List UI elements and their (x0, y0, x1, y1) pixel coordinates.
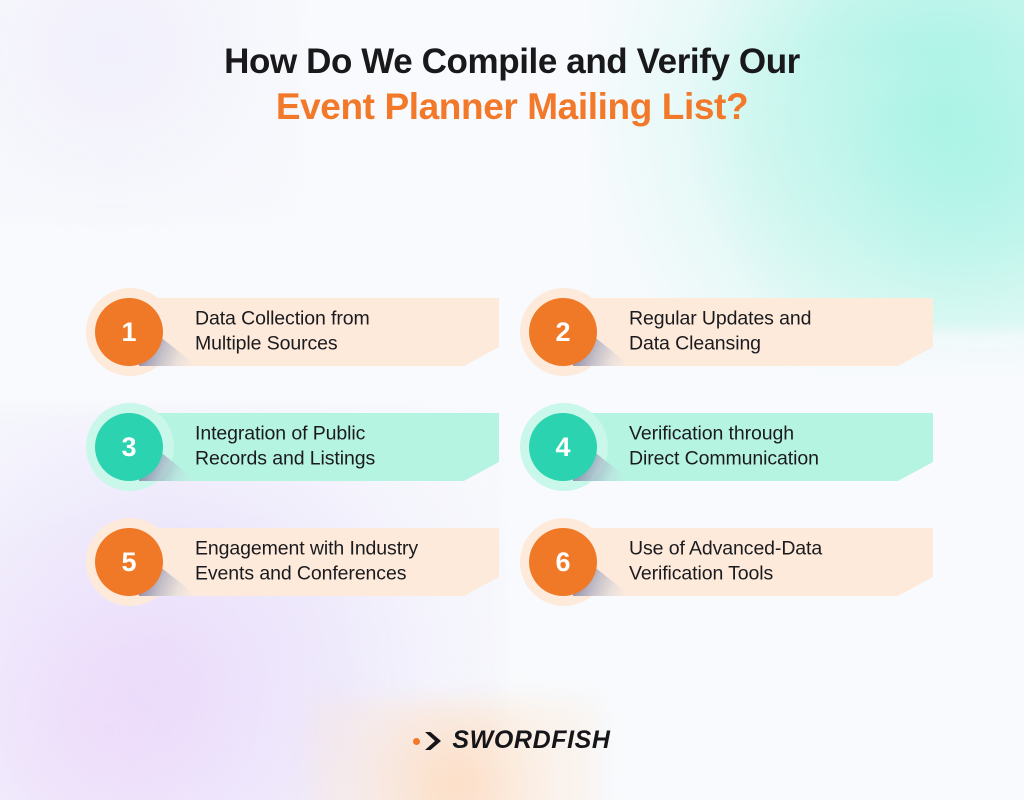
step-card-2-number: 2 (555, 319, 570, 346)
step-card-3[interactable]: 3 Integration of Public Records and List… (95, 413, 499, 481)
step-card-6-label: Use of Advanced-Data Verification Tools (629, 537, 925, 588)
step-card-5[interactable]: 5 Engagement with Industry Events and Co… (95, 528, 499, 596)
infographic-canvas: How Do We Compile and Verify Our Event P… (0, 0, 1024, 800)
step-card-2-number-badge: 2 (529, 298, 597, 366)
page-title-line-2: Event Planner Mailing List? (0, 85, 1024, 129)
step-card-4-number-badge: 4 (529, 413, 597, 481)
step-card-3-label-line-2: Records and Listings (195, 447, 491, 472)
step-card-6-number: 6 (555, 549, 570, 576)
brand-logo: SWORDFISH (0, 726, 1024, 755)
step-card-4-label-line-1: Verification through (629, 422, 925, 447)
step-card-5-label-line-1: Engagement with Industry (195, 537, 491, 562)
step-card-4-label: Verification through Direct Communicatio… (629, 422, 925, 473)
step-card-2-label: Regular Updates and Data Cleansing (629, 307, 925, 358)
step-card-1[interactable]: 1 Data Collection from Multiple Sources (95, 298, 499, 366)
step-card-5-label-line-2: Events and Conferences (195, 562, 491, 587)
steps-row-1: 1 Data Collection from Multiple Sources … (95, 298, 933, 366)
step-card-6[interactable]: 6 Use of Advanced-Data Verification Tool… (529, 528, 933, 596)
step-card-1-number-badge: 1 (95, 298, 163, 366)
step-card-6-number-badge: 6 (529, 528, 597, 596)
step-card-4-label-line-2: Direct Communication (629, 447, 925, 472)
step-card-2-label-line-1: Regular Updates and (629, 307, 925, 332)
logo-dot-icon (413, 738, 420, 745)
step-card-4-number: 4 (555, 434, 570, 461)
step-card-1-number: 1 (121, 319, 136, 346)
step-card-3-number: 3 (121, 434, 136, 461)
step-card-6-label-line-2: Verification Tools (629, 562, 925, 587)
step-card-1-label-line-1: Data Collection from (195, 307, 491, 332)
step-card-3-label-line-1: Integration of Public (195, 422, 491, 447)
swordfish-mark-icon (413, 730, 443, 752)
step-card-2-label-line-2: Data Cleansing (629, 332, 925, 357)
steps-row-3: 5 Engagement with Industry Events and Co… (95, 528, 933, 596)
brand-name: SWORDFISH (452, 726, 610, 755)
steps-grid: 1 Data Collection from Multiple Sources … (95, 298, 933, 596)
step-card-3-label: Integration of Public Records and Listin… (195, 422, 491, 473)
steps-row-2: 3 Integration of Public Records and List… (95, 413, 933, 481)
step-card-6-label-line-1: Use of Advanced-Data (629, 537, 925, 562)
step-card-3-number-badge: 3 (95, 413, 163, 481)
step-card-5-number: 5 (121, 549, 136, 576)
step-card-2[interactable]: 2 Regular Updates and Data Cleansing (529, 298, 933, 366)
step-card-4[interactable]: 4 Verification through Direct Communicat… (529, 413, 933, 481)
step-card-5-label: Engagement with Industry Events and Conf… (195, 537, 491, 588)
chevron-right-icon (423, 731, 443, 751)
step-card-5-number-badge: 5 (95, 528, 163, 596)
page-title-line-1: How Do We Compile and Verify Our (0, 42, 1024, 81)
step-card-1-label: Data Collection from Multiple Sources (195, 307, 491, 358)
step-card-1-label-line-2: Multiple Sources (195, 332, 491, 357)
page-title: How Do We Compile and Verify Our Event P… (0, 42, 1024, 130)
